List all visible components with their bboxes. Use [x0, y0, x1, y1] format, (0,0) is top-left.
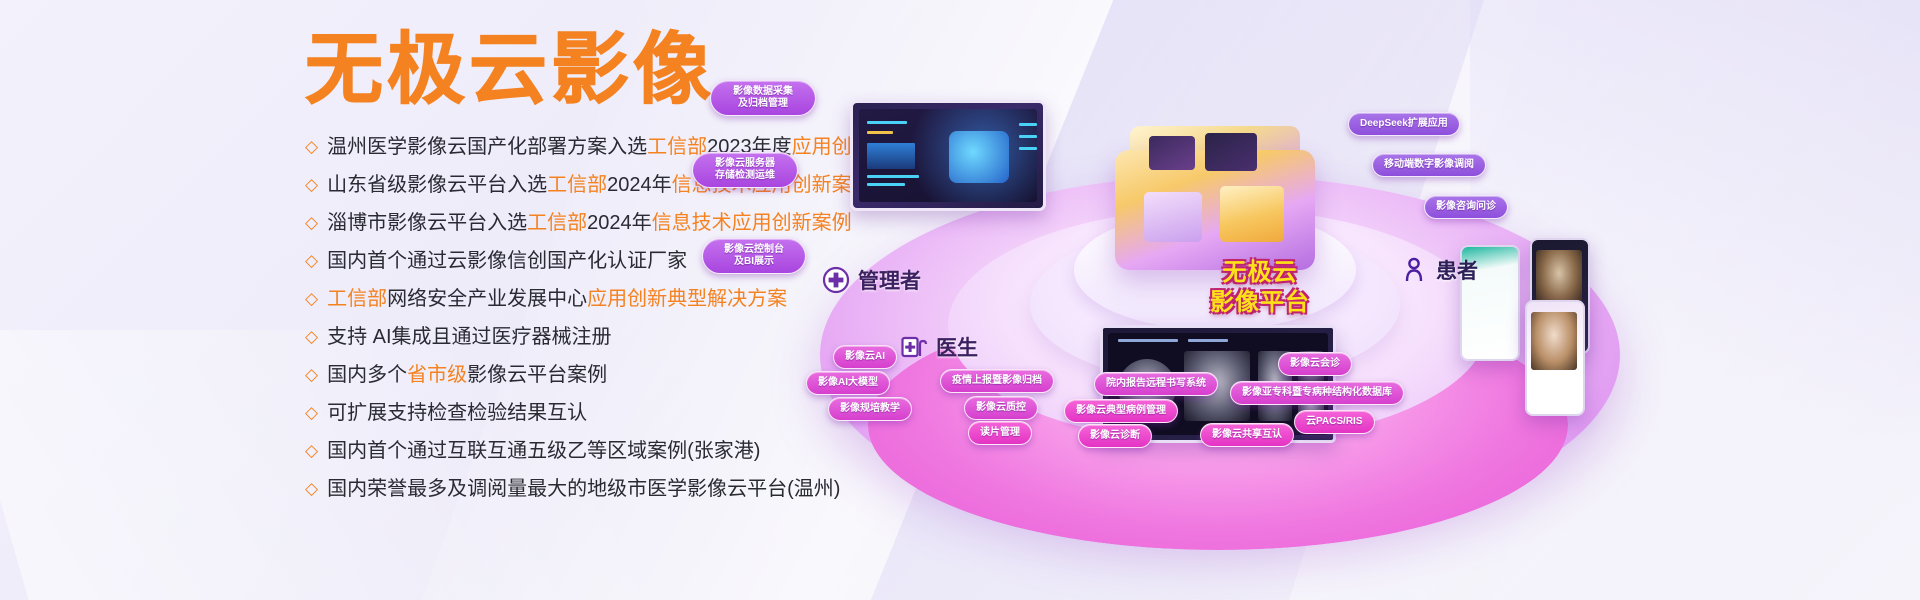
center-badge-line2: 影像平台 [1180, 288, 1340, 318]
pill-label[interactable]: 影像云控制台及BI展示 [702, 238, 806, 274]
diamond-bullet-icon: ◇ [305, 168, 318, 202]
plain-text: 温州医学影像云国产化部署方案入选 [327, 136, 647, 158]
feature-item-text: 国内首个通过互联互通五级乙等区域案例(张家港) [327, 434, 760, 468]
feature-item-text: 支持 AI集成且通过医疗器械注册 [327, 320, 611, 354]
pill-label[interactable]: 影像数据采集及归档管理 [710, 80, 816, 116]
page-title: 无极云影像 [305, 22, 715, 118]
diamond-bullet-icon: ◇ [305, 434, 318, 468]
diamond-bullet-icon: ◇ [305, 282, 318, 316]
plain-text: 国内首个通过云影像信创国产化认证厂家 [327, 250, 687, 272]
pill-label[interactable]: 影像云服务器存储检测运维 [692, 152, 798, 188]
xray-thumbnail [1531, 312, 1577, 370]
plain-text: 支持 AI集成且通过医疗器械注册 [327, 326, 611, 348]
highlight-text: 工信部 [527, 212, 587, 234]
role-doctor-label: 医生 [936, 332, 978, 362]
center-platform-badge: 无极云 影像平台 [1180, 258, 1340, 318]
pill-label[interactable]: 影像云会诊 [1278, 352, 1352, 376]
pill-label[interactable]: DeepSeek扩展应用 [1348, 112, 1460, 136]
patient-phone-mockup-3 [1525, 300, 1585, 416]
diamond-bullet-icon: ◇ [305, 472, 318, 506]
hospital-cross-icon [822, 266, 850, 294]
highlight-text: 省市级 [407, 364, 467, 386]
role-doctor: 医生 [900, 332, 978, 362]
promo-banner: 无极云影像 ◇温州医学影像云国产化部署方案入选工信部2023年度应用创新应用示范… [0, 0, 1920, 600]
highlight-text: 工信部 [327, 288, 387, 310]
pill-label[interactable]: 影像规培教学 [828, 397, 912, 421]
role-admin: 管理者 [822, 265, 921, 295]
pedestal-screen-right [1205, 133, 1257, 171]
pill-label[interactable]: 移动端数字影像调阅 [1372, 153, 1486, 177]
pill-label[interactable]: 影像AI大模型 [806, 371, 890, 395]
laptop-screen [859, 109, 1037, 202]
role-admin-label: 管理者 [858, 265, 921, 295]
pedestal-screen-left [1149, 136, 1195, 170]
diamond-bullet-icon: ◇ [305, 358, 318, 392]
laptop-mockup [850, 100, 1046, 211]
pill-label[interactable]: 读片管理 [968, 421, 1032, 445]
pill-label[interactable]: 影像云诊断 [1078, 424, 1152, 448]
pedestal-panel-left [1144, 192, 1202, 242]
pill-label[interactable]: 影像云典型病例管理 [1064, 399, 1178, 423]
plain-text: 山东省级影像云平台入选 [327, 174, 547, 196]
feature-item-text: 可扩展支持检查检验结果互认 [327, 396, 587, 430]
plain-text: 可扩展支持检查检验结果互认 [327, 402, 587, 424]
plain-text: 网络安全产业发展中心 [387, 288, 587, 310]
platform-illustration: 无极云 影像平台 管理者 医 [700, 0, 1920, 600]
highlight-text: 工信部 [547, 174, 607, 196]
diamond-bullet-icon: ◇ [305, 130, 318, 164]
role-patient: 患者 [1400, 255, 1478, 285]
doctor-badge-icon [900, 333, 928, 361]
pill-label[interactable]: 院内报告远程书写系统 [1094, 372, 1218, 396]
diamond-bullet-icon: ◇ [305, 320, 318, 354]
diamond-bullet-icon: ◇ [305, 396, 318, 430]
plain-text: 2024年 [607, 174, 672, 196]
plain-text: 国内首个通过互联互通五级乙等区域案例(张家港) [327, 440, 760, 462]
plain-text: 2024年 [587, 212, 652, 234]
feature-item-text: 国内多个省市级影像云平台案例 [327, 358, 607, 392]
pill-label[interactable]: 疫情上报暨影像归档 [940, 369, 1054, 393]
person-icon [1400, 256, 1428, 284]
plain-text: 淄博市影像云平台入选 [327, 212, 527, 234]
feature-item-text: 国内首个通过云影像信创国产化认证厂家 [327, 244, 687, 278]
pill-label[interactable]: 影像云AI [833, 345, 897, 369]
pill-label[interactable]: 影像咨询问诊 [1424, 195, 1508, 219]
pill-label[interactable]: 影像亚专科暨专病种结构化数据库 [1230, 381, 1404, 405]
pill-label[interactable]: 影像云共享互认 [1200, 423, 1294, 447]
diamond-bullet-icon: ◇ [305, 206, 318, 240]
plain-text: 国内多个 [327, 364, 407, 386]
plain-text: 影像云平台案例 [467, 364, 607, 386]
pill-label[interactable]: 云PACS/RIS [1294, 410, 1375, 434]
pedestal-panel-right [1220, 186, 1284, 242]
highlight-text: 工信部 [647, 136, 707, 158]
pill-label[interactable]: 影像云质控 [964, 396, 1038, 420]
center-badge-line1: 无极云 [1180, 258, 1340, 288]
diamond-bullet-icon: ◇ [305, 244, 318, 278]
role-patient-label: 患者 [1436, 255, 1478, 285]
